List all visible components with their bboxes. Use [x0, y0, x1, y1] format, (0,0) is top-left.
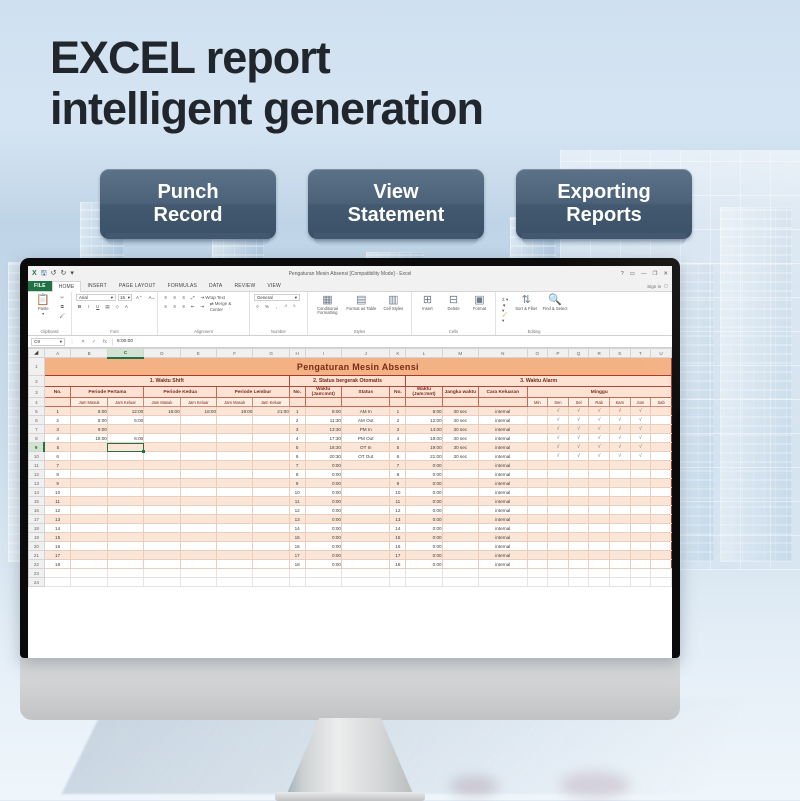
alarm-day-sen[interactable]	[548, 560, 569, 569]
alarm-row-output[interactable]: internal	[479, 515, 528, 524]
column-header-c[interactable]: C	[107, 349, 143, 358]
alarm-day-min[interactable]	[527, 452, 548, 461]
shift-ot-out[interactable]	[253, 515, 289, 524]
align-middle-icon[interactable]: ≡	[171, 294, 178, 301]
column-header-e[interactable]: E	[180, 349, 216, 358]
grid-cell[interactable]	[568, 578, 589, 587]
tab-view[interactable]: VIEW	[261, 281, 287, 291]
status-row-no[interactable]: 10	[289, 488, 305, 497]
status-row-status[interactable]: AM In	[341, 407, 390, 416]
alarm-row-no[interactable]: 2	[390, 416, 406, 425]
column-header-t[interactable]: T	[630, 349, 651, 358]
alarm-day-rab[interactable]	[589, 551, 610, 560]
status-row-time[interactable]: 20:30	[305, 452, 341, 461]
shift-p1-in[interactable]	[71, 479, 107, 488]
borders-icon[interactable]: ▤	[103, 303, 111, 310]
shift-row-no[interactable]: 14	[44, 524, 71, 533]
grid-cell[interactable]	[44, 569, 71, 578]
alarm-row-no[interactable]: 10	[390, 488, 406, 497]
align-right-icon[interactable]: ≡	[180, 303, 187, 310]
alarm-row-duration[interactable]	[442, 461, 478, 470]
alarm-day-sel[interactable]: √	[568, 443, 589, 452]
grid-cell[interactable]	[305, 578, 341, 587]
shift-p1-out[interactable]	[107, 461, 143, 470]
font-size-select[interactable]: 16 ▾	[118, 294, 132, 301]
status-row-status[interactable]	[341, 479, 390, 488]
alarm-day-jum[interactable]	[630, 506, 651, 515]
shift-ot-out[interactable]	[253, 524, 289, 533]
shift-ot-in[interactable]	[217, 461, 253, 470]
alarm-row-time[interactable]: 0:00	[406, 497, 442, 506]
alarm-row-time[interactable]: 8:00	[406, 407, 442, 416]
column-header-i[interactable]: I	[305, 349, 341, 358]
status-row-no[interactable]: 11	[289, 497, 305, 506]
grid-cell[interactable]	[630, 578, 651, 587]
shift-ot-in[interactable]	[217, 542, 253, 551]
grid-cell[interactable]	[442, 578, 478, 587]
alarm-day-kam[interactable]	[609, 524, 630, 533]
alarm-row-no[interactable]: 12	[390, 506, 406, 515]
tab-file[interactable]: FILE	[28, 281, 52, 291]
shift-ot-in[interactable]	[217, 434, 253, 443]
alarm-row-no[interactable]: 4	[390, 434, 406, 443]
shift-ot-in[interactable]	[217, 524, 253, 533]
shift-p2-in[interactable]	[144, 506, 180, 515]
grid-cell[interactable]	[289, 569, 305, 578]
alarm-day-jum[interactable]	[630, 497, 651, 506]
grid-cell[interactable]	[609, 569, 630, 578]
alarm-day-min[interactable]	[527, 533, 548, 542]
shift-p1-out[interactable]	[107, 515, 143, 524]
row-header-21[interactable]: 21	[29, 551, 45, 560]
expand-formula-bar-icon[interactable]: ⋮	[68, 339, 76, 345]
shift-p1-in[interactable]: 8:00	[71, 416, 107, 425]
column-header-b[interactable]: B	[71, 349, 107, 358]
column-header-g[interactable]: G	[253, 349, 289, 358]
row-header-8[interactable]: 8	[29, 434, 45, 443]
alarm-day-rab[interactable]	[589, 488, 610, 497]
alarm-day-sen[interactable]: √	[548, 443, 569, 452]
status-row-no[interactable]: 6	[289, 452, 305, 461]
clear-icon[interactable]: 🧹 ▾	[500, 314, 510, 321]
spreadsheet-grid[interactable]: ◢ABCDEFGHIJKLMNOPQRSTU 1Pengaturan Mesin…	[28, 348, 672, 658]
shift-p1-in[interactable]	[71, 524, 107, 533]
shift-row-no[interactable]: 6	[44, 452, 71, 461]
shift-p2-out[interactable]	[180, 515, 216, 524]
shift-row-no[interactable]: 10	[44, 488, 71, 497]
alarm-day-kam[interactable]	[609, 461, 630, 470]
shift-p1-out[interactable]	[107, 497, 143, 506]
grid-cell[interactable]	[180, 569, 216, 578]
alarm-row-time[interactable]: 0:00	[406, 542, 442, 551]
column-header-p[interactable]: P	[548, 349, 569, 358]
grid-cell[interactable]	[144, 578, 180, 587]
shift-p2-out[interactable]	[180, 479, 216, 488]
alarm-row-output[interactable]: internal	[479, 470, 528, 479]
alarm-day-sen[interactable]	[548, 479, 569, 488]
alarm-day-sel[interactable]	[568, 542, 589, 551]
row-header-6[interactable]: 6	[29, 416, 45, 425]
alarm-day-sel[interactable]	[568, 461, 589, 470]
shift-ot-out[interactable]	[253, 470, 289, 479]
alarm-day-sab[interactable]	[651, 461, 672, 470]
alarm-row-output[interactable]: internal	[479, 524, 528, 533]
alarm-day-sel[interactable]: √	[568, 452, 589, 461]
status-row-no[interactable]: 3	[289, 425, 305, 434]
shift-ot-in[interactable]	[217, 560, 253, 569]
redo-icon[interactable]: ↻	[61, 270, 67, 277]
shift-p1-out[interactable]	[107, 542, 143, 551]
status-row-time[interactable]: 18:30	[305, 443, 341, 452]
status-row-no[interactable]: 18	[289, 560, 305, 569]
alarm-row-duration[interactable]	[442, 497, 478, 506]
column-header-r[interactable]: R	[589, 349, 610, 358]
shift-ot-in[interactable]	[217, 443, 253, 452]
column-header-o[interactable]: O	[527, 349, 548, 358]
alarm-day-sel[interactable]	[568, 533, 589, 542]
status-row-time[interactable]: 0:00	[305, 533, 341, 542]
shift-row-no[interactable]: 3	[44, 425, 71, 434]
minimize-icon[interactable]: —	[641, 271, 647, 277]
status-row-time[interactable]: 0:00	[305, 470, 341, 479]
alarm-day-sen[interactable]	[548, 551, 569, 560]
alarm-day-sel[interactable]	[568, 515, 589, 524]
shift-p1-in[interactable]	[71, 515, 107, 524]
alarm-day-jum[interactable]: √	[630, 434, 651, 443]
row-header-16[interactable]: 16	[29, 506, 45, 515]
row-header-10[interactable]: 10	[29, 452, 45, 461]
alarm-day-kam[interactable]	[609, 479, 630, 488]
alarm-day-sab[interactable]	[651, 560, 672, 569]
alarm-day-sel[interactable]	[568, 470, 589, 479]
alarm-day-min[interactable]	[527, 443, 548, 452]
alarm-row-duration[interactable]	[442, 488, 478, 497]
status-row-time[interactable]: 8:00	[305, 407, 341, 416]
alarm-day-sel[interactable]	[568, 488, 589, 497]
alarm-day-sab[interactable]	[651, 443, 672, 452]
alarm-day-jum[interactable]	[630, 560, 651, 569]
find-select-button[interactable]: 🔍 Find & Select	[542, 294, 568, 311]
alarm-day-min[interactable]	[527, 461, 548, 470]
wrap-text-button[interactable]: ⇥ Wrap Text	[199, 294, 231, 301]
alarm-row-output[interactable]: internal	[479, 497, 528, 506]
alarm-day-kam[interactable]	[609, 488, 630, 497]
alarm-day-sen[interactable]: √	[548, 416, 569, 425]
grid-cell[interactable]	[527, 578, 548, 587]
alarm-day-rab[interactable]	[589, 524, 610, 533]
grid-cell[interactable]	[442, 569, 478, 578]
alarm-day-sel[interactable]	[568, 524, 589, 533]
alarm-row-duration[interactable]: 30 sec	[442, 425, 478, 434]
status-row-status[interactable]	[341, 560, 390, 569]
alarm-row-output[interactable]: internal	[479, 488, 528, 497]
grid-cell[interactable]	[253, 578, 289, 587]
shift-ot-out[interactable]	[253, 452, 289, 461]
alarm-row-duration[interactable]: 30 sec	[442, 407, 478, 416]
shift-p2-in[interactable]: 16:00	[144, 407, 180, 416]
grid-cell[interactable]	[107, 569, 143, 578]
shift-p2-out[interactable]	[180, 434, 216, 443]
status-row-time[interactable]: 0:00	[305, 461, 341, 470]
alarm-row-no[interactable]: 8	[390, 470, 406, 479]
status-row-status[interactable]	[341, 551, 390, 560]
shift-p2-in[interactable]	[144, 443, 180, 452]
alarm-row-no[interactable]: 7	[390, 461, 406, 470]
alarm-day-sen[interactable]	[548, 542, 569, 551]
shift-p1-in[interactable]	[71, 551, 107, 560]
grid-cell[interactable]	[651, 578, 672, 587]
shift-p1-in[interactable]	[71, 452, 107, 461]
alarm-row-time[interactable]: 12:00	[406, 416, 442, 425]
shift-row-no[interactable]: 18	[44, 560, 71, 569]
alarm-row-output[interactable]: internal	[479, 506, 528, 515]
alarm-day-jum[interactable]: √	[630, 425, 651, 434]
shift-p1-in[interactable]	[71, 443, 107, 452]
alarm-day-sel[interactable]: √	[568, 416, 589, 425]
alarm-day-min[interactable]	[527, 497, 548, 506]
alarm-row-duration[interactable]: 30 sec	[442, 452, 478, 461]
shift-row-no[interactable]: 11	[44, 497, 71, 506]
column-header-a[interactable]: A	[44, 349, 71, 358]
shift-p1-out[interactable]	[107, 488, 143, 497]
shift-p1-in[interactable]	[71, 461, 107, 470]
row-header-7[interactable]: 7	[29, 425, 45, 434]
alarm-day-sel[interactable]	[568, 506, 589, 515]
alarm-day-sab[interactable]	[651, 515, 672, 524]
alarm-row-output[interactable]: internal	[479, 560, 528, 569]
exporting-reports-button[interactable]: Exporting Reports	[516, 169, 692, 239]
row-header-2[interactable]: 2	[29, 376, 45, 387]
shift-ot-out[interactable]	[253, 434, 289, 443]
grid-cell[interactable]	[589, 569, 610, 578]
shift-p1-out[interactable]	[107, 560, 143, 569]
shift-ot-out[interactable]: 21:00	[253, 407, 289, 416]
shift-p2-in[interactable]	[144, 479, 180, 488]
status-row-no[interactable]: 4	[289, 434, 305, 443]
alarm-day-kam[interactable]	[609, 515, 630, 524]
shift-p1-out[interactable]	[107, 452, 143, 461]
shift-ot-in[interactable]	[217, 452, 253, 461]
help-icon[interactable]: ?	[621, 271, 624, 277]
alarm-row-no[interactable]: 5	[390, 443, 406, 452]
shift-p1-in[interactable]: 8:00	[71, 407, 107, 416]
shift-p2-in[interactable]	[144, 497, 180, 506]
font-color-icon[interactable]: A	[123, 303, 130, 310]
shift-ot-in[interactable]	[217, 533, 253, 542]
alarm-day-sen[interactable]	[548, 497, 569, 506]
increase-decimal-icon[interactable]: ·⁰	[282, 303, 289, 310]
grid-cell[interactable]	[548, 578, 569, 587]
status-row-no[interactable]: 8	[289, 470, 305, 479]
status-row-time[interactable]: 0:00	[305, 560, 341, 569]
row-header-1[interactable]: 1	[29, 358, 45, 376]
save-icon[interactable]: 🖫	[41, 270, 47, 277]
shift-row-no[interactable]: 8	[44, 470, 71, 479]
number-format-select[interactable]: General ▾	[254, 294, 300, 301]
status-row-time[interactable]: 0:00	[305, 488, 341, 497]
grid-cell[interactable]	[406, 569, 442, 578]
decrease-indent-icon[interactable]: ⇤	[189, 303, 196, 310]
alarm-row-output[interactable]: internal	[479, 443, 528, 452]
status-row-status[interactable]	[341, 533, 390, 542]
shift-p1-in[interactable]	[71, 470, 107, 479]
shift-p2-out[interactable]	[180, 524, 216, 533]
column-header-m[interactable]: M	[442, 349, 478, 358]
alarm-day-min[interactable]	[527, 560, 548, 569]
sort-filter-button[interactable]: ⇅ Sort & Filter	[513, 294, 539, 311]
alarm-day-kam[interactable]: √	[609, 425, 630, 434]
sign-in-link[interactable]: Sign in ◻	[647, 281, 672, 291]
status-row-time[interactable]: 17:30	[305, 434, 341, 443]
shift-p2-in[interactable]	[144, 524, 180, 533]
alarm-row-no[interactable]: 11	[390, 497, 406, 506]
column-header-j[interactable]: J	[341, 349, 390, 358]
copy-icon[interactable]: ⧉	[57, 303, 67, 310]
row-header-20[interactable]: 20	[29, 542, 45, 551]
tab-home[interactable]: HOME	[52, 281, 82, 292]
shift-row-no[interactable]: 15	[44, 533, 71, 542]
grid-cell[interactable]	[180, 578, 216, 587]
status-row-no[interactable]: 17	[289, 551, 305, 560]
status-row-no[interactable]: 7	[289, 461, 305, 470]
format-painter-icon[interactable]: 🖌	[57, 312, 67, 319]
alarm-row-duration[interactable]: 30 sec	[442, 443, 478, 452]
alarm-day-rab[interactable]	[589, 542, 610, 551]
column-header-s[interactable]: S	[609, 349, 630, 358]
grid-cell[interactable]	[289, 578, 305, 587]
shift-p1-out[interactable]	[107, 479, 143, 488]
row-header-14[interactable]: 14	[29, 488, 45, 497]
alarm-row-time[interactable]: 0:00	[406, 551, 442, 560]
status-row-no[interactable]: 15	[289, 533, 305, 542]
alarm-row-no[interactable]: 18	[390, 560, 406, 569]
alarm-day-sab[interactable]	[651, 524, 672, 533]
alarm-row-no[interactable]: 15	[390, 533, 406, 542]
shift-ot-out[interactable]	[253, 497, 289, 506]
alarm-row-time[interactable]: 0:00	[406, 488, 442, 497]
punch-record-button[interactable]: Punch Record	[100, 169, 276, 239]
format-cells-button[interactable]: ▣ Format	[468, 294, 491, 311]
shift-p1-out[interactable]: 5:00	[107, 416, 143, 425]
tab-data[interactable]: DATA	[203, 281, 228, 291]
shift-ot-out[interactable]	[253, 479, 289, 488]
shift-ot-out[interactable]	[253, 443, 289, 452]
alarm-row-duration[interactable]: 30 sec	[442, 434, 478, 443]
alarm-day-sel[interactable]: √	[568, 407, 589, 416]
status-row-status[interactable]: OT Out	[341, 452, 390, 461]
fill-icon[interactable]: ▼ ▾	[500, 305, 510, 312]
shift-ot-out[interactable]	[253, 551, 289, 560]
alarm-day-min[interactable]	[527, 416, 548, 425]
alarm-day-sen[interactable]	[548, 533, 569, 542]
shift-p2-out[interactable]	[180, 533, 216, 542]
alarm-day-sen[interactable]	[548, 488, 569, 497]
shift-ot-in[interactable]	[217, 515, 253, 524]
alarm-day-sen[interactable]: √	[548, 452, 569, 461]
alarm-row-no[interactable]: 14	[390, 524, 406, 533]
shift-p2-in[interactable]	[144, 533, 180, 542]
currency-icon[interactable]: ¤	[254, 303, 261, 310]
column-header-n[interactable]: N	[479, 349, 528, 358]
cell-styles-button[interactable]: ▥ Cell Styles	[380, 294, 407, 311]
shift-p1-in[interactable]	[71, 497, 107, 506]
alarm-day-rab[interactable]: √	[589, 407, 610, 416]
alarm-day-kam[interactable]	[609, 533, 630, 542]
grid-cell[interactable]	[589, 578, 610, 587]
shift-ot-in[interactable]	[217, 506, 253, 515]
status-row-no[interactable]: 12	[289, 506, 305, 515]
fill-color-icon[interactable]: ◇	[114, 303, 121, 310]
alarm-day-kam[interactable]: √	[609, 434, 630, 443]
shift-ot-in[interactable]: 19:00	[217, 407, 253, 416]
row-header-24[interactable]: 24	[29, 578, 45, 587]
alarm-day-jum[interactable]	[630, 542, 651, 551]
row-header-4[interactable]: 4	[29, 398, 45, 407]
alarm-row-no[interactable]: 16	[390, 542, 406, 551]
shift-row-no[interactable]: 13	[44, 515, 71, 524]
shift-p1-out[interactable]: 12:00	[107, 407, 143, 416]
alarm-day-sab[interactable]	[651, 542, 672, 551]
shift-p2-out[interactable]	[180, 425, 216, 434]
alarm-day-sab[interactable]	[651, 407, 672, 416]
alarm-day-min[interactable]	[527, 506, 548, 515]
alarm-row-duration[interactable]	[442, 533, 478, 542]
column-header-u[interactable]: U	[651, 349, 672, 358]
merge-center-button[interactable]: ⇄ Merge & Center	[208, 303, 245, 310]
status-row-no[interactable]: 9	[289, 479, 305, 488]
alarm-day-sab[interactable]	[651, 506, 672, 515]
alarm-day-jum[interactable]	[630, 479, 651, 488]
alarm-day-kam[interactable]: √	[609, 407, 630, 416]
grid-cell[interactable]	[107, 578, 143, 587]
alarm-day-sen[interactable]: √	[548, 434, 569, 443]
shift-p2-in[interactable]	[144, 542, 180, 551]
alarm-row-duration[interactable]	[442, 551, 478, 560]
shift-ot-out[interactable]	[253, 416, 289, 425]
alarm-day-jum[interactable]: √	[630, 416, 651, 425]
alarm-row-time[interactable]: 0:00	[406, 479, 442, 488]
name-box[interactable]: C9 ▾	[31, 338, 65, 346]
alarm-row-no[interactable]: 9	[390, 479, 406, 488]
status-row-no[interactable]: 1	[289, 407, 305, 416]
grid-cell[interactable]	[651, 569, 672, 578]
shift-p1-out[interactable]	[107, 533, 143, 542]
grid-cell[interactable]	[630, 569, 651, 578]
alarm-day-rab[interactable]	[589, 497, 610, 506]
status-row-status[interactable]	[341, 461, 390, 470]
alarm-day-sab[interactable]	[651, 488, 672, 497]
alarm-row-no[interactable]: 6	[390, 452, 406, 461]
alarm-day-sen[interactable]	[548, 470, 569, 479]
shift-p2-in[interactable]	[144, 551, 180, 560]
alarm-day-jum[interactable]: √	[630, 452, 651, 461]
alarm-row-time[interactable]: 0:00	[406, 560, 442, 569]
row-header-23[interactable]: 23	[29, 569, 45, 578]
alarm-day-sab[interactable]	[651, 434, 672, 443]
align-center-icon[interactable]: ≡	[171, 303, 178, 310]
alarm-day-min[interactable]	[527, 470, 548, 479]
shift-p1-out[interactable]	[107, 524, 143, 533]
alarm-day-min[interactable]	[527, 488, 548, 497]
alarm-row-output[interactable]: internal	[479, 479, 528, 488]
alarm-row-no[interactable]: 1	[390, 407, 406, 416]
grid-cell[interactable]	[548, 569, 569, 578]
alarm-day-rab[interactable]: √	[589, 416, 610, 425]
alarm-row-output[interactable]: internal	[479, 461, 528, 470]
alarm-day-sel[interactable]: √	[568, 434, 589, 443]
alarm-day-jum[interactable]	[630, 515, 651, 524]
status-row-no[interactable]: 13	[289, 515, 305, 524]
